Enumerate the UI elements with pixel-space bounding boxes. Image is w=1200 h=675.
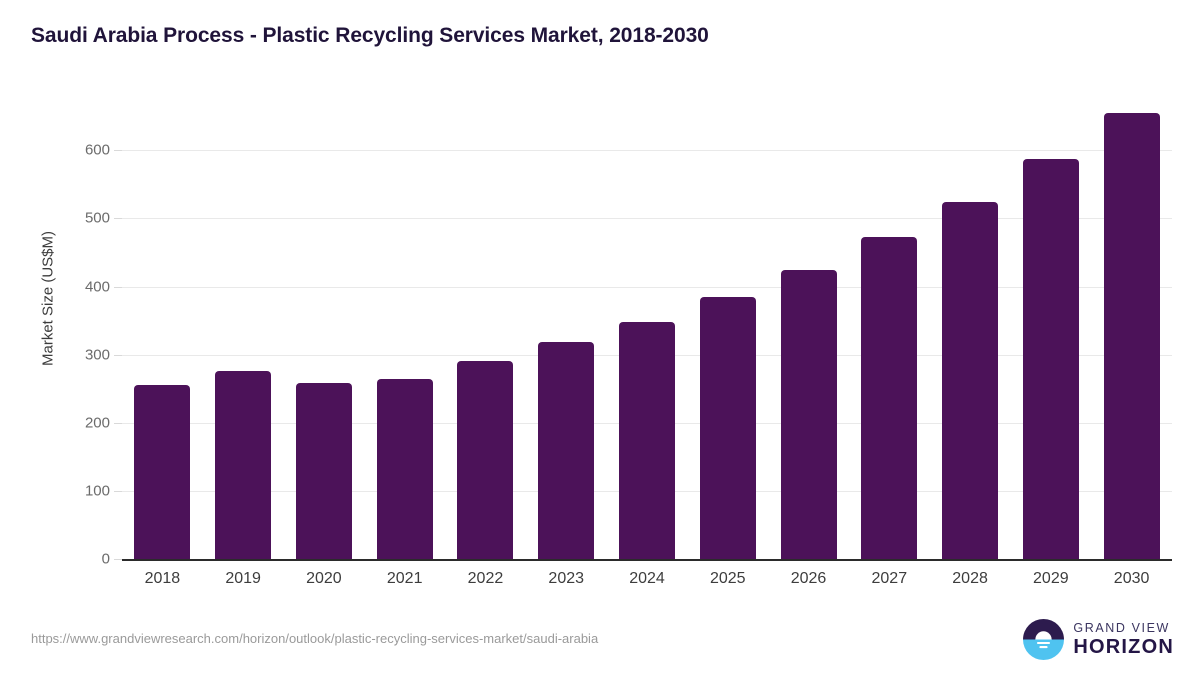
bar-group: 2019 xyxy=(203,0,284,675)
grand-view-horizon-logo[interactable]: GRAND VIEW HORIZON xyxy=(1023,619,1174,660)
logo-line-horizon: HORIZON xyxy=(1073,637,1174,657)
y-tick-label: 200 xyxy=(48,414,110,431)
bar-group: 2022 xyxy=(445,0,526,675)
x-tick-label: 2027 xyxy=(872,570,908,588)
bar[interactable] xyxy=(134,385,190,559)
x-tick-label: 2028 xyxy=(952,570,988,588)
logo-text: GRAND VIEW HORIZON xyxy=(1073,622,1174,658)
bar[interactable] xyxy=(296,383,352,559)
x-tick-label: 2026 xyxy=(791,570,827,588)
bar-group: 2025 xyxy=(687,0,768,675)
bar-group: 2023 xyxy=(526,0,607,675)
source-url[interactable]: https://www.grandviewresearch.com/horizo… xyxy=(31,631,598,646)
x-tick-label: 2022 xyxy=(468,570,504,588)
y-axis-ticks: 0100200300400500600 xyxy=(48,0,110,675)
bar[interactable] xyxy=(457,361,513,559)
bar[interactable] xyxy=(700,297,756,559)
y-tick-label: 300 xyxy=(48,346,110,363)
bar-group: 2027 xyxy=(849,0,930,675)
bar[interactable] xyxy=(619,322,675,559)
y-tick-label: 500 xyxy=(48,210,110,227)
plot-area: Market Size (US$M) 0100200300400500600 2… xyxy=(0,0,1200,675)
bar-group: 2026 xyxy=(768,0,849,675)
x-tick-label: 2023 xyxy=(548,570,584,588)
y-tick-label: 0 xyxy=(48,551,110,568)
y-tick-mark xyxy=(114,559,122,560)
bar-group: 2020 xyxy=(284,0,365,675)
x-tick-label: 2019 xyxy=(225,570,261,588)
bar-group: 2030 xyxy=(1091,0,1172,675)
x-tick-label: 2020 xyxy=(306,570,342,588)
logo-mark-icon xyxy=(1023,619,1064,660)
bar[interactable] xyxy=(861,237,917,559)
y-tick-label: 400 xyxy=(48,278,110,295)
bar-group: 2018 xyxy=(122,0,203,675)
bar[interactable] xyxy=(1023,159,1079,559)
y-tick-mark xyxy=(114,150,122,151)
bar[interactable] xyxy=(215,371,271,559)
bar[interactable] xyxy=(538,342,594,559)
bar-group: 2024 xyxy=(607,0,688,675)
chart-page: Saudi Arabia Process - Plastic Recycling… xyxy=(0,0,1200,675)
y-tick-mark xyxy=(114,287,122,288)
logo-line-grand-view: GRAND VIEW xyxy=(1073,622,1174,635)
x-tick-label: 2024 xyxy=(629,570,665,588)
bar-group: 2029 xyxy=(1010,0,1091,675)
bar-series: 2018201920202021202220232024202520262027… xyxy=(122,0,1172,675)
x-tick-label: 2029 xyxy=(1033,570,1069,588)
bar[interactable] xyxy=(942,202,998,559)
y-tick-mark xyxy=(114,355,122,356)
x-tick-label: 2021 xyxy=(387,570,423,588)
bar[interactable] xyxy=(1104,113,1160,559)
y-tick-label: 600 xyxy=(48,142,110,159)
x-tick-label: 2018 xyxy=(145,570,181,588)
y-tick-mark xyxy=(114,423,122,424)
y-tick-label: 100 xyxy=(48,482,110,499)
x-tick-label: 2030 xyxy=(1114,570,1150,588)
y-tick-mark xyxy=(114,218,122,219)
bar[interactable] xyxy=(377,379,433,559)
x-tick-label: 2025 xyxy=(710,570,746,588)
bar-group: 2021 xyxy=(364,0,445,675)
y-tick-mark xyxy=(114,491,122,492)
bar-group: 2028 xyxy=(930,0,1011,675)
bar[interactable] xyxy=(781,270,837,559)
